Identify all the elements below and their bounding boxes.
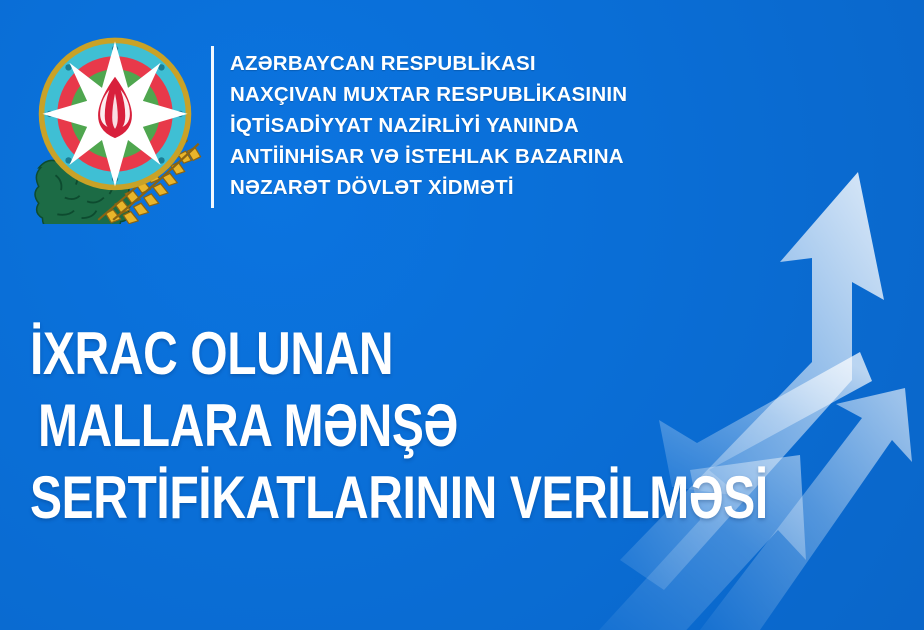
org-line-2: NAXÇIVAN MUXTAR RESPUBLİKASININ: [230, 79, 790, 110]
poster-canvas: AZƏRBAYCAN RESPUBLİKASI NAXÇIVAN MUXTAR …: [0, 0, 924, 630]
title-line-2: MALLARA MƏNŞƏ: [38, 390, 747, 462]
state-emblem-icon: [22, 28, 208, 224]
emblem-container: [22, 28, 208, 224]
org-line-4: ANTİİNHİSAR VƏ İSTEHLAK BAZARINA: [230, 141, 790, 172]
org-line-5: NƏZARƏT DÖVLƏT XİDMƏTİ: [230, 172, 790, 203]
header-divider: [211, 46, 214, 208]
title-line-3: SERTİFİKATLARININ VERİLMƏSİ: [30, 462, 745, 534]
title-line-1: İXRAC OLUNAN: [30, 318, 745, 390]
poster-header: AZƏRBAYCAN RESPUBLİKASI NAXÇIVAN MUXTAR …: [0, 0, 924, 230]
org-line-3: İQTİSADİYYAT NAZİRLİYİ YANINDA: [230, 110, 790, 141]
organization-name: AZƏRBAYCAN RESPUBLİKASI NAXÇIVAN MUXTAR …: [230, 48, 790, 203]
poster-title: İXRAC OLUNAN MALLARA MƏNŞƏ SERTİFİKATLAR…: [0, 318, 924, 534]
org-line-1: AZƏRBAYCAN RESPUBLİKASI: [230, 48, 790, 79]
